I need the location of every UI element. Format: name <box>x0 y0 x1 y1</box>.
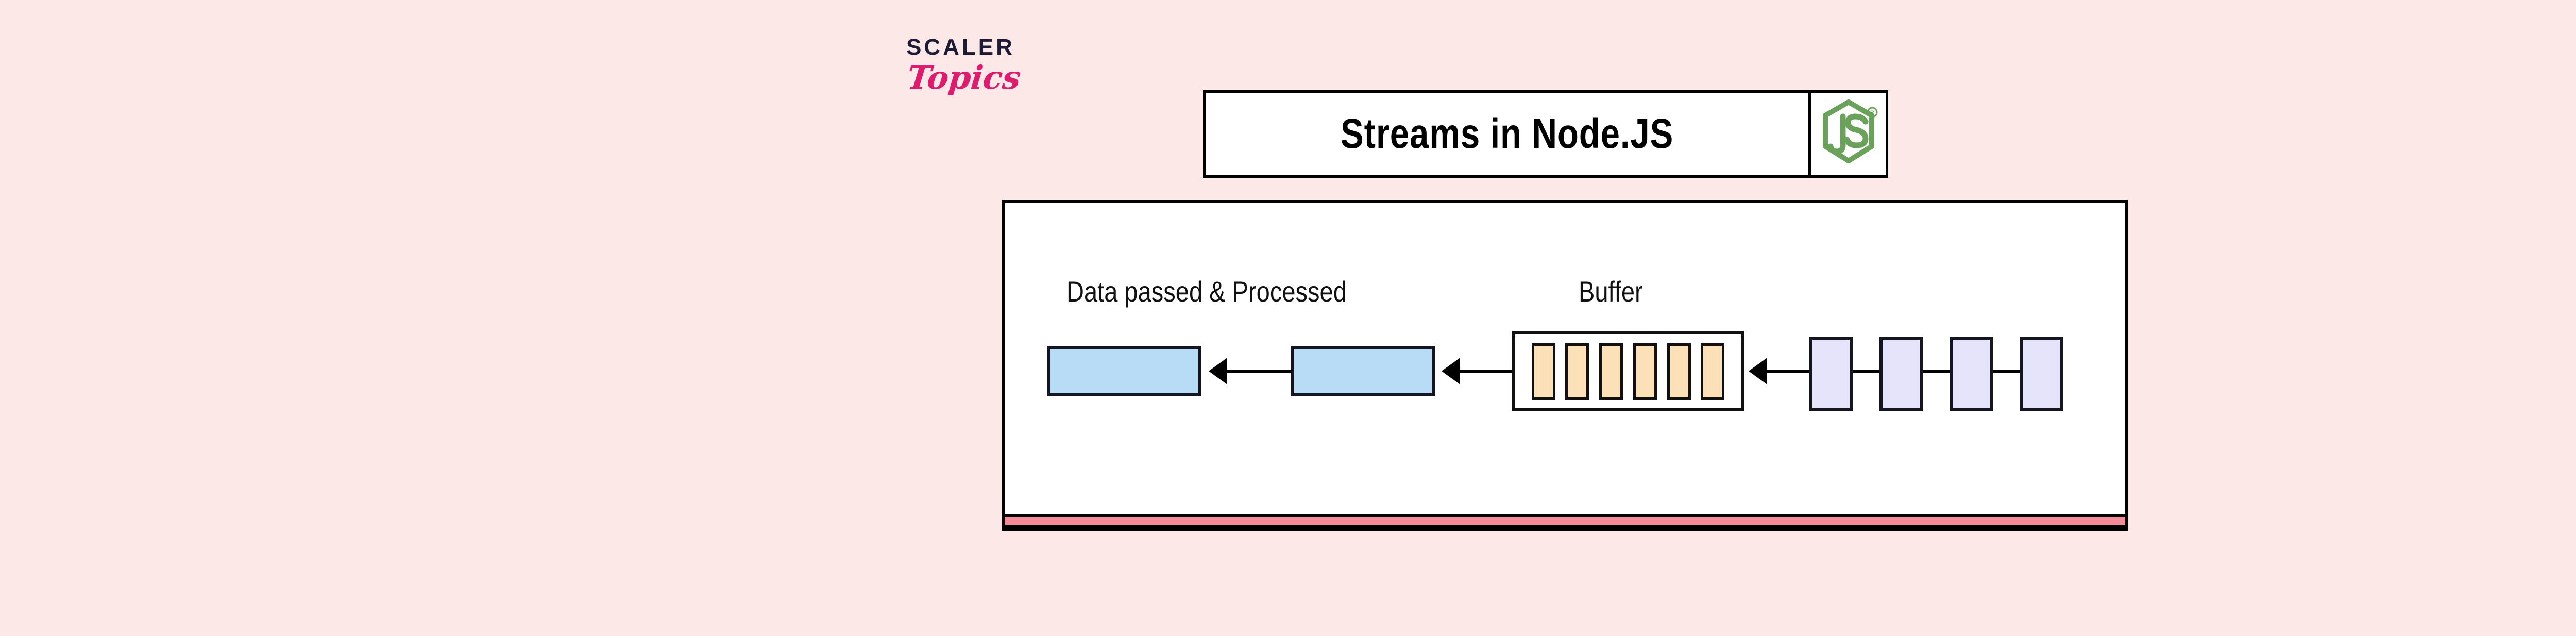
buffer-cell <box>1667 343 1691 400</box>
connector-processed-2-to-1 <box>1226 370 1292 373</box>
panel-footer-bar <box>1005 514 2125 528</box>
brand-name-scaler: SCALER <box>904 36 1038 59</box>
title-text-cell: Streams in Node.JS <box>1206 93 1808 175</box>
nodejs-logo-cell: R <box>1811 93 1886 175</box>
arrow-processed-2-to-1 <box>1209 358 1227 384</box>
label-buffer: Buffer <box>1579 275 1643 308</box>
title-banner: Streams in Node.JS R <box>1203 90 1888 178</box>
buffer-cell <box>1701 343 1724 400</box>
incoming-data-chunk-3 <box>1950 337 1993 411</box>
incoming-data-chunk-2 <box>1879 337 1923 411</box>
scaler-topics-logo: SCALER Topics <box>904 36 1038 134</box>
processed-data-box-1 <box>1047 346 1201 396</box>
connector-chunk-to-buffer <box>1766 370 1810 373</box>
buffer-cell <box>1565 343 1589 400</box>
arrow-chunk-to-buffer <box>1749 358 1767 384</box>
arrow-buffer-to-processed-2 <box>1442 358 1460 384</box>
connector-chunk-2-3 <box>1923 370 1950 373</box>
incoming-data-chunk-4 <box>2020 337 2063 411</box>
processed-data-box-2 <box>1291 346 1435 396</box>
incoming-data-chunk-1 <box>1809 337 1853 411</box>
page-title: Streams in Node.JS <box>1341 110 1673 158</box>
stream-diagram-panel: Data passed & Processed Buffer <box>1002 200 2128 531</box>
buffer-cell <box>1599 343 1623 400</box>
buffer-container <box>1512 331 1744 411</box>
nodejs-js-logo: R <box>1818 98 1879 170</box>
connector-chunk-1-2 <box>1853 370 1879 373</box>
buffer-cell <box>1633 343 1657 400</box>
connector-chunk-3-4 <box>1993 370 2020 373</box>
diagram-stage: Data passed & Processed Buffer <box>1005 203 2125 528</box>
label-data-passed-processed: Data passed & Processed <box>1066 275 1347 308</box>
brand-name-topics: Topics <box>903 61 1040 94</box>
buffer-cell <box>1532 343 1555 400</box>
svg-text:R: R <box>1870 110 1874 116</box>
connector-buffer-to-processed-2 <box>1459 370 1515 373</box>
